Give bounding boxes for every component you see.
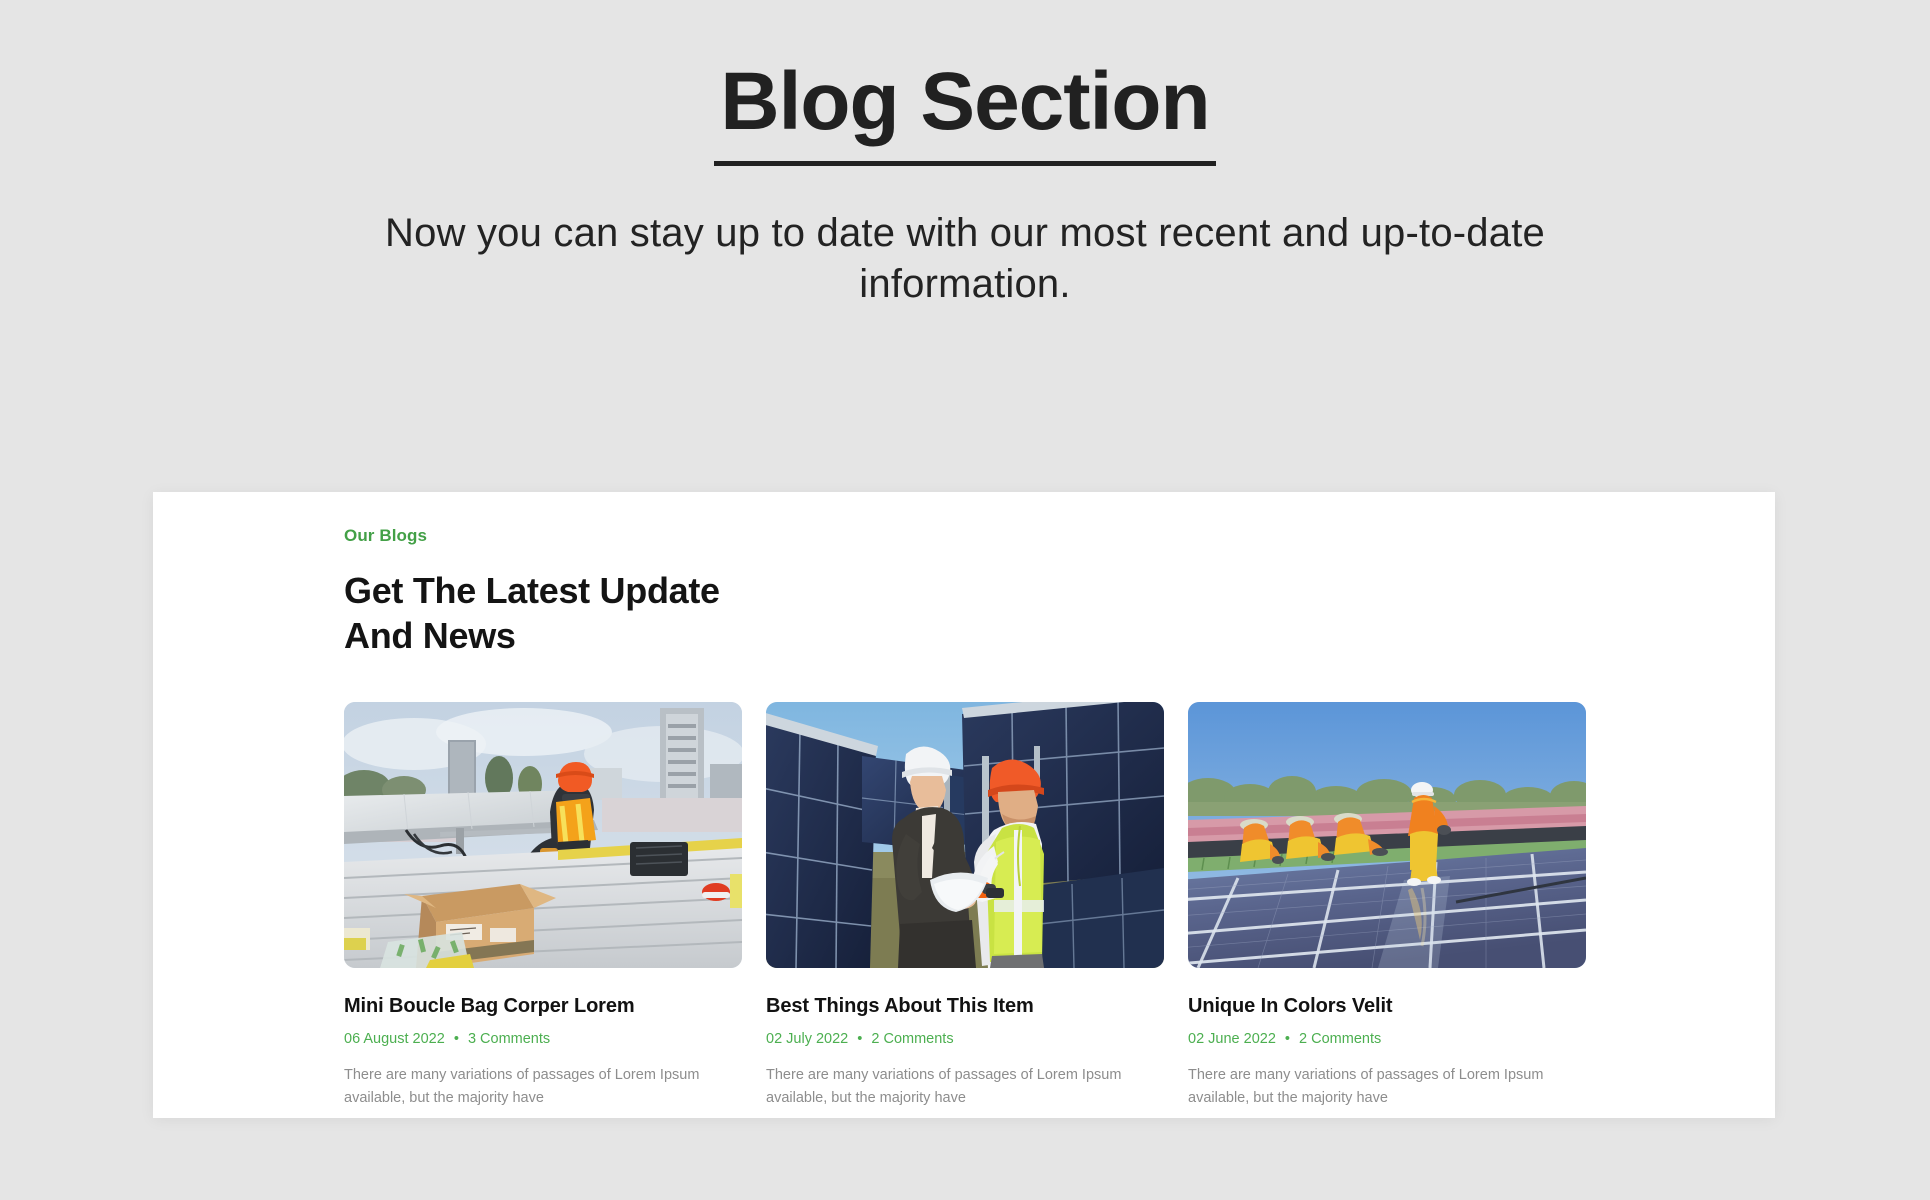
blog-card-comment-count[interactable]: 3 Comments: [468, 1031, 550, 1047]
blog-card[interactable]: Unique In Colors Velit 02 June 2022 • 2 …: [1188, 702, 1586, 1111]
meta-separator-dot: •: [852, 1031, 867, 1047]
section-eyebrow-label: Our Blogs: [344, 526, 1775, 546]
blog-card-date: 02 June 2022: [1188, 1031, 1276, 1047]
blog-section-page: Blog Section Now you can stay up to date…: [0, 0, 1930, 1200]
blog-card-list: Mini Boucle Bag Corper Lorem 06 August 2…: [344, 702, 1587, 1111]
panel-header: Our Blogs Get The Latest Update And News: [153, 492, 1775, 659]
blog-card-meta: 02 June 2022 • 2 Comments: [1188, 1031, 1586, 1047]
blog-card-date: 02 July 2022: [766, 1031, 848, 1047]
blog-card-title[interactable]: Best Things About This Item: [766, 995, 1164, 1018]
blog-card-excerpt: There are many variations of passages of…: [344, 1064, 722, 1111]
rooftop-solar-installation-photo[interactable]: [344, 702, 742, 968]
blog-card-title[interactable]: Unique In Colors Velit: [1188, 995, 1586, 1018]
engineer-and-technician-solar-farm-photo[interactable]: [766, 702, 1164, 968]
hero-section: Blog Section Now you can stay up to date…: [0, 0, 1930, 310]
blog-card-comment-count[interactable]: 2 Comments: [1299, 1031, 1381, 1047]
solar-array-maintenance-crew-photo[interactable]: [1188, 702, 1586, 968]
blog-card-meta: 02 July 2022 • 2 Comments: [766, 1031, 1164, 1047]
meta-separator-dot: •: [1280, 1031, 1295, 1047]
blog-card[interactable]: Best Things About This Item 02 July 2022…: [766, 702, 1164, 1111]
blog-card-excerpt: There are many variations of passages of…: [766, 1064, 1144, 1111]
page-title: Blog Section: [714, 58, 1215, 166]
section-heading: Get The Latest Update And News: [344, 568, 1775, 659]
meta-separator-dot: •: [449, 1031, 464, 1047]
blog-card-meta: 06 August 2022 • 3 Comments: [344, 1031, 742, 1047]
blog-card-date: 06 August 2022: [344, 1031, 445, 1047]
blog-card-title[interactable]: Mini Boucle Bag Corper Lorem: [344, 995, 742, 1018]
blog-card-comment-count[interactable]: 2 Comments: [871, 1031, 953, 1047]
blog-card[interactable]: Mini Boucle Bag Corper Lorem 06 August 2…: [344, 702, 742, 1111]
blog-card-excerpt: There are many variations of passages of…: [1188, 1064, 1566, 1111]
page-subtitle: Now you can stay up to date with our mos…: [365, 208, 1565, 310]
